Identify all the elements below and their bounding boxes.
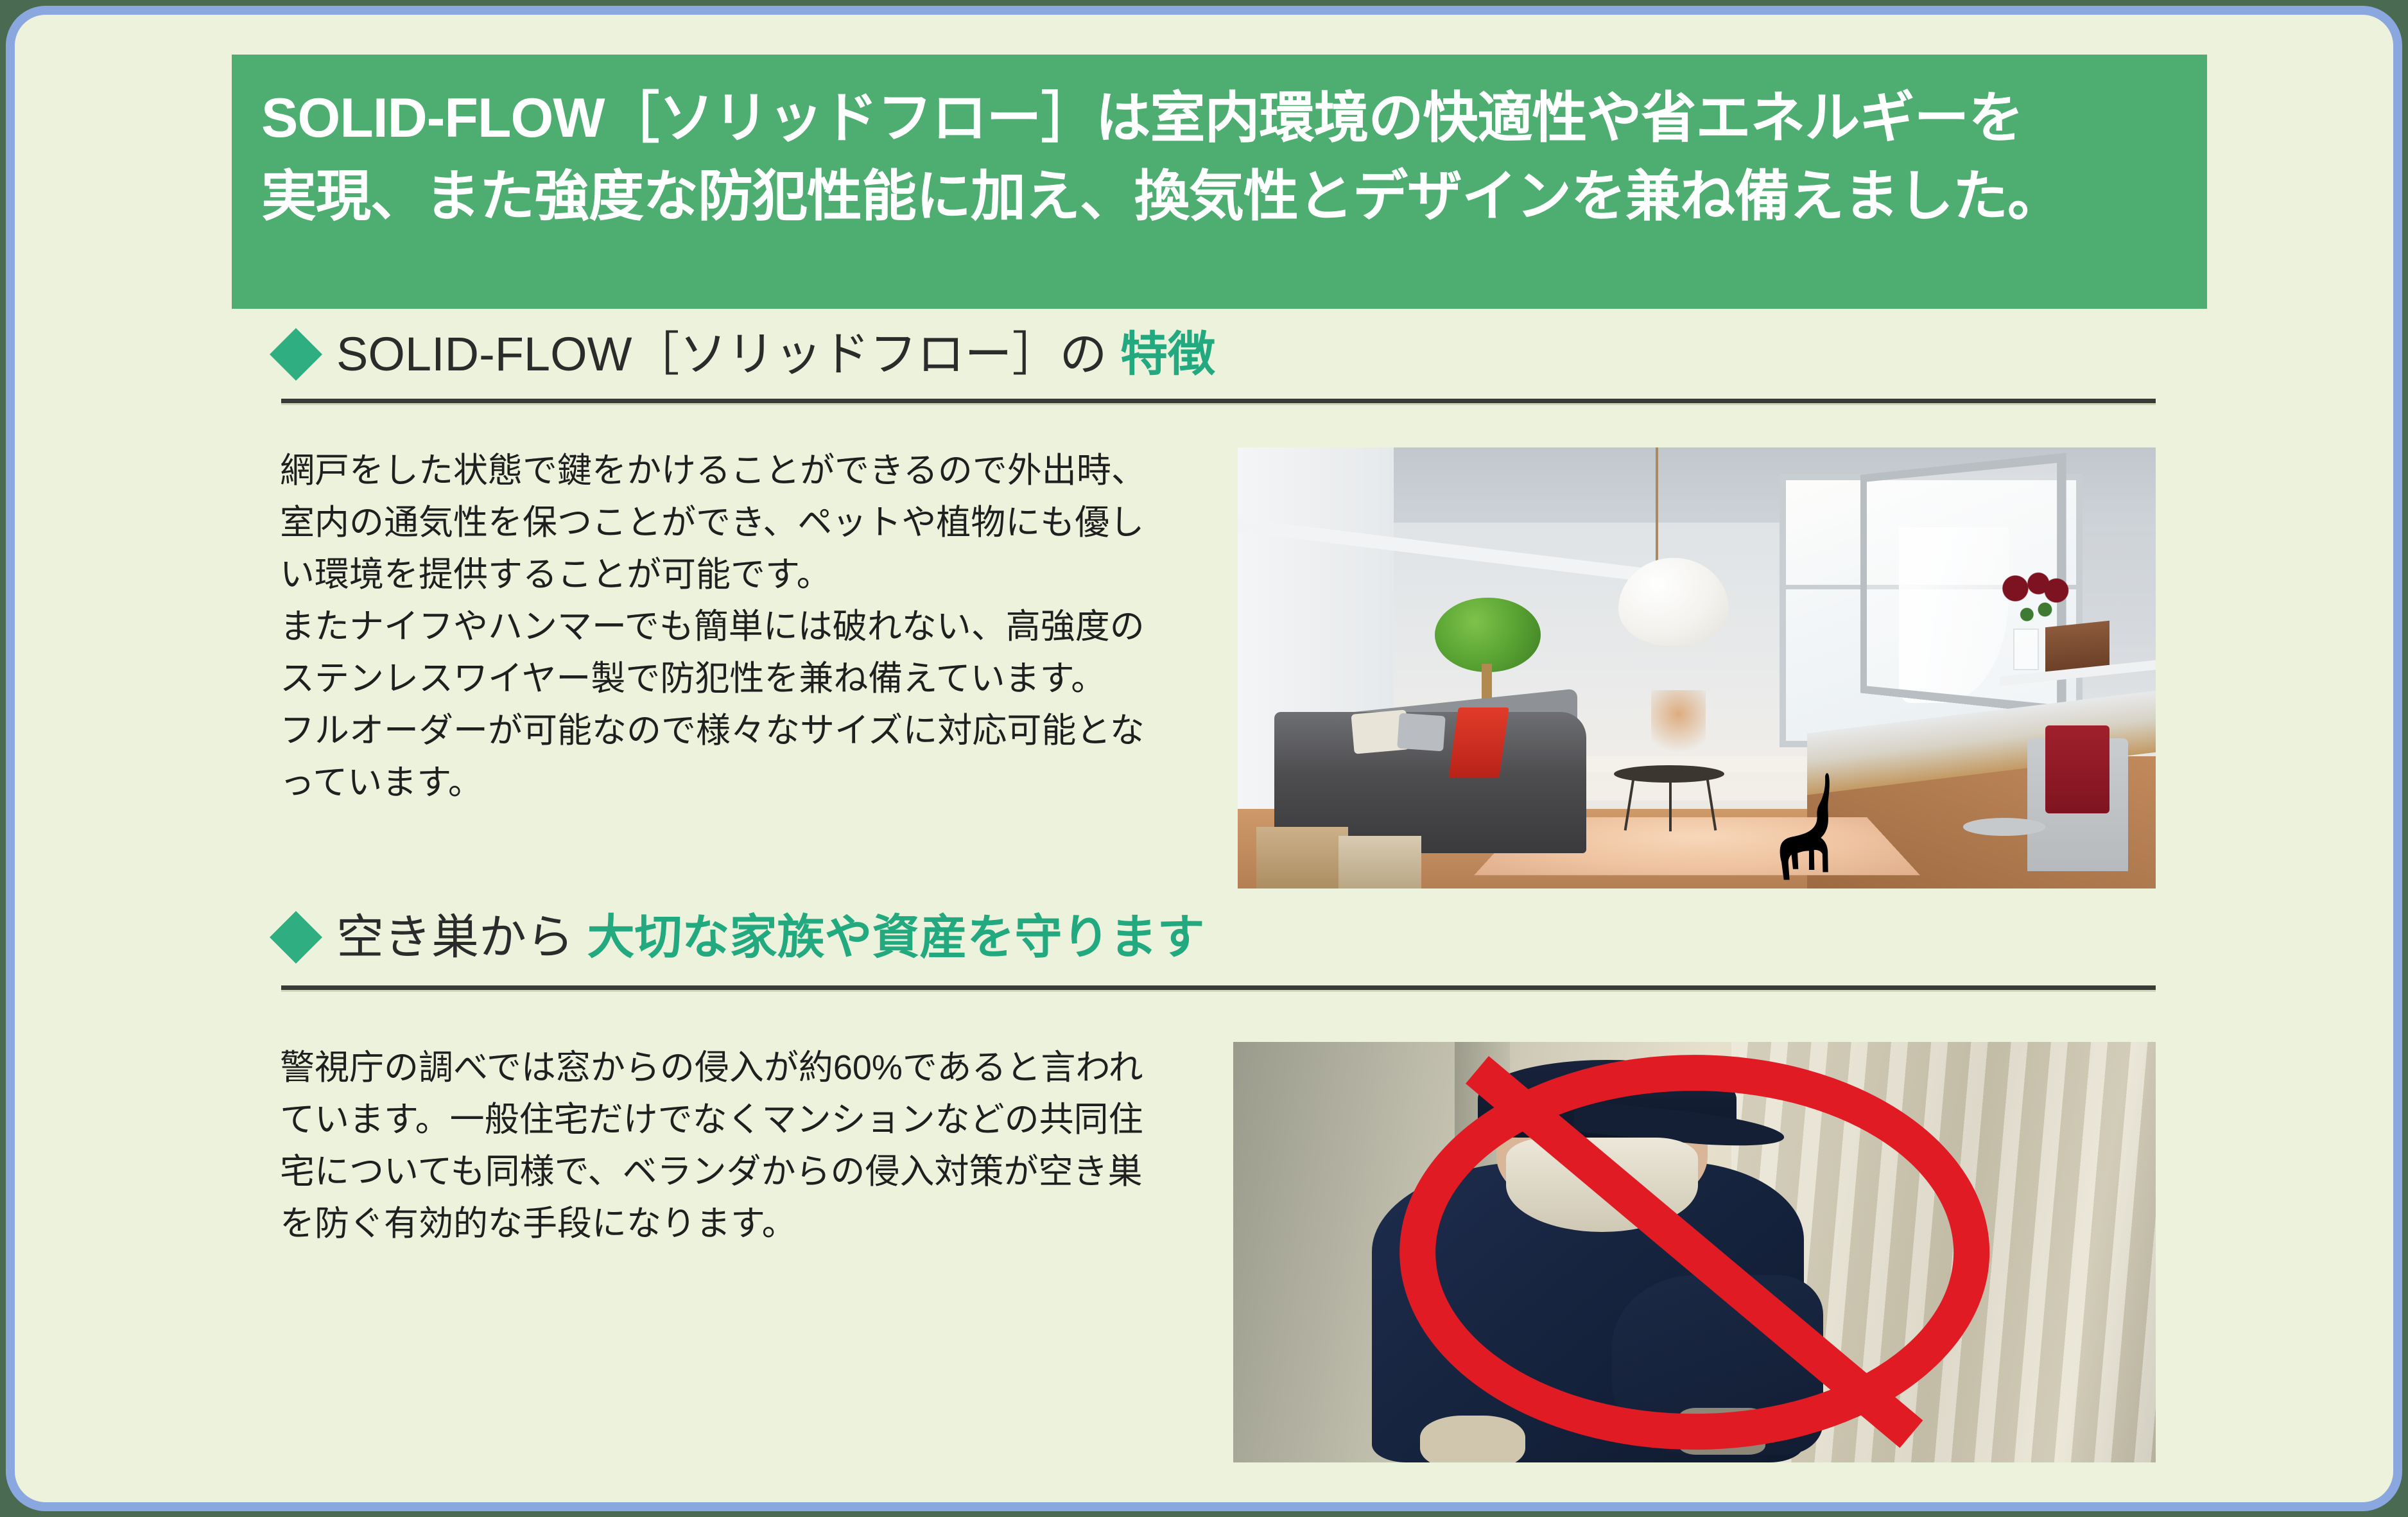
burglar-prohibited-photo	[1233, 1042, 2156, 1462]
dried-twig-arrangement	[1651, 690, 1706, 770]
section-1-divider	[281, 399, 2156, 405]
section-2-body-line-3: 宅についても同様で、ベランダからの侵入対策が空き巣	[280, 1146, 1249, 1198]
section-1-heading-plain: SOLID-FLOW［ソリッドフロー］の	[336, 327, 1120, 381]
metal-stool	[1963, 818, 2046, 835]
pendant-lamp-cord	[1656, 447, 1658, 562]
chair-red-cloth	[2045, 725, 2109, 813]
woven-basket-left	[1256, 827, 1348, 889]
section-2-divider	[281, 985, 2156, 992]
living-room-photo	[1238, 447, 2156, 889]
section-1-body-line-4: またナイフやハンマーでも簡単には破れない、高強度の	[280, 601, 1249, 653]
section-1-body-line-2: 室内の通気性を保つことができ、ペットや植物にも優し	[280, 497, 1249, 549]
potted-tree-foliage	[1435, 598, 1540, 673]
section-2-heading-plain: 空き巣から	[336, 910, 587, 964]
section-1-body: 網戸をした状態で鍵をかけることができるので外出時、 室内の通気性を保つことができ…	[280, 445, 1249, 809]
content-card: SOLID-FLOW［ソリッドフロー］は室内環境の快適性や省エネルギーを 実現、…	[6, 6, 2402, 1511]
section-1-body-line-5: ステンレスワイヤー製で防犯性を兼ね備えています。	[280, 653, 1249, 705]
diamond-bullet-icon	[270, 328, 322, 381]
page-root: SOLID-FLOW［ソリッドフロー］は室内環境の快適性や省エネルギーを 実現、…	[0, 0, 2408, 1517]
hero-banner-line-1: SOLID-FLOW［ソリッドフロー］は室内環境の快適性や省エネルギーを	[261, 79, 2178, 157]
section-1-heading-accent: 特徴	[1120, 327, 1215, 381]
section-2-body-line-2: ています。一般住宅だけでなくマンションなどの共同住	[280, 1094, 1249, 1146]
section-2-heading-text: 空き巣から 大切な家族や資産を守ります	[336, 914, 1205, 961]
section-2-body-line-4: を防ぐ有効的な手段になります。	[280, 1198, 1249, 1250]
hero-banner: SOLID-FLOW［ソリッドフロー］は室内環境の快適性や省エネルギーを 実現、…	[232, 55, 2207, 309]
woven-basket-right	[1338, 836, 1421, 889]
side-table-leg-mid	[1669, 778, 1672, 831]
section-1-heading-text: SOLID-FLOW［ソリッドフロー］の 特徴	[336, 331, 1215, 378]
section-2-body: 警視庁の調べでは窓からの侵入が約60%であると言われ ています。一般住宅だけでな…	[280, 1042, 1249, 1250]
black-cat-silhouette	[1733, 770, 1880, 885]
sofa-cushion-grey	[1397, 713, 1445, 751]
diamond-bullet-icon	[270, 911, 322, 964]
section-2-body-line-1: 警視庁の調べでは窓からの侵入が約60%であると言われ	[280, 1042, 1249, 1094]
section-1-heading: SOLID-FLOW［ソリッドフロー］の 特徴	[277, 331, 1215, 378]
section-2-heading-accent: 大切な家族や資産を守ります	[587, 910, 1205, 964]
section-1-body-line-1: 網戸をした状態で鍵をかけることができるので外出時、	[280, 445, 1249, 497]
prohibition-sign-icon	[1399, 1055, 1990, 1450]
section-2-heading: 空き巣から 大切な家族や資産を守ります	[277, 914, 1205, 961]
section-1-body-line-6: フルオーダーが可能なので様々なサイズに対応可能とな	[280, 705, 1249, 757]
red-roses	[1991, 571, 2074, 641]
red-throw-blanket	[1448, 707, 1509, 778]
section-1-body-line-3: い環境を提供することが可能です。	[280, 549, 1249, 601]
hero-banner-line-2: 実現、また強度な防犯性能に加え、換気性とデザインを兼ね備えました。	[261, 157, 2178, 236]
section-1-body-line-7: っています。	[280, 757, 1249, 809]
